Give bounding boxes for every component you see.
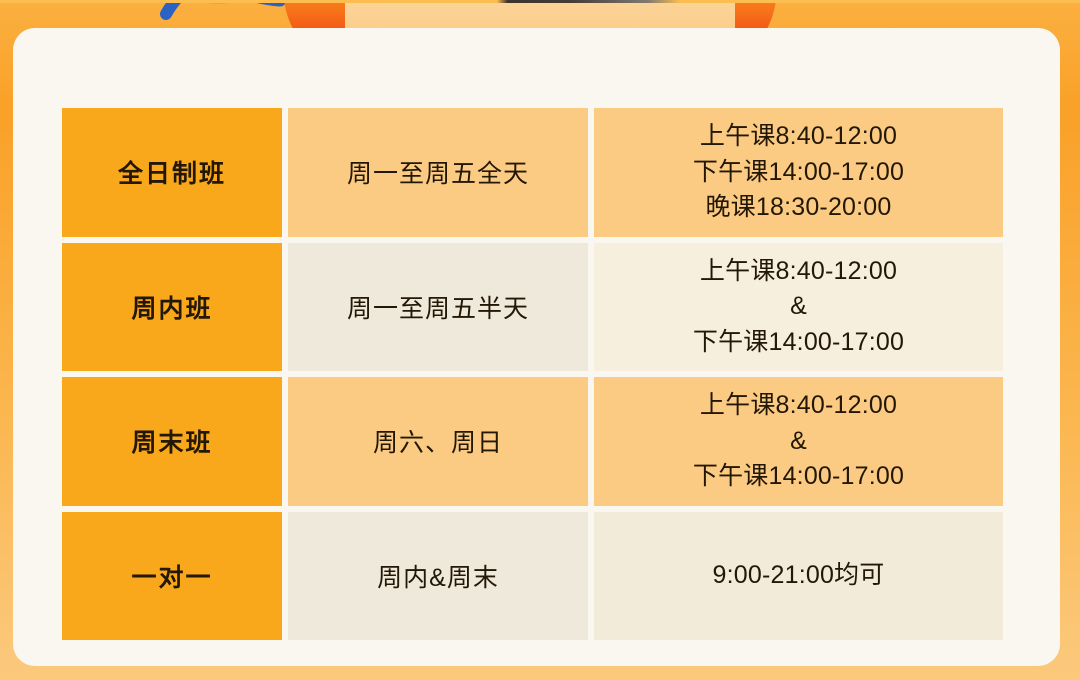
class-time-line: 9:00-21:00均可: [713, 558, 885, 594]
class-time-line: 上午课8:40-12:00: [693, 254, 904, 290]
class-time-line: 下午课14:00-17:00: [693, 325, 904, 361]
class-days-cell: 周内&周末: [288, 512, 588, 641]
class-time-line: 上午课8:40-12:00: [693, 388, 904, 424]
class-times-cell: 9:00-21:00均可: [594, 512, 1003, 641]
class-time-line: 晚课18:30-20:00: [693, 190, 904, 226]
table-row: 全日制班 周一至周五全天 上午课8:40-12:00 下午课14:00-17:0…: [62, 108, 1003, 237]
class-times-cell: 上午课8:40-12:00 下午课14:00-17:00 晚课18:30-20:…: [594, 108, 1003, 237]
page-root: 全日制班 周一至周五全天 上午课8:40-12:00 下午课14:00-17:0…: [0, 0, 1080, 680]
class-days-cell: 周一至周五全天: [288, 108, 588, 237]
table-row: 周内班 周一至周五半天 上午课8:40-12:00 & 下午课14:00-17:…: [62, 243, 1003, 372]
class-schedule-table: 全日制班 周一至周五全天 上午课8:40-12:00 下午课14:00-17:0…: [62, 108, 1003, 640]
class-days-cell: 周六、周日: [288, 377, 588, 506]
class-type-cell: 一对一: [62, 512, 282, 641]
top-edge-line: [0, 0, 1080, 3]
class-type-cell: 周内班: [62, 243, 282, 372]
class-time-line: 上午课8:40-12:00: [693, 119, 904, 155]
class-type-cell: 周末班: [62, 377, 282, 506]
class-time-line: &: [693, 289, 904, 325]
table-row: 周末班 周六、周日 上午课8:40-12:00 & 下午课14:00-17:00: [62, 377, 1003, 506]
class-time-line: 下午课14:00-17:00: [693, 155, 904, 191]
class-times-cell: 上午课8:40-12:00 & 下午课14:00-17:00: [594, 377, 1003, 506]
class-time-line: 下午课14:00-17:00: [693, 459, 904, 495]
class-type-cell: 全日制班: [62, 108, 282, 237]
class-days-cell: 周一至周五半天: [288, 243, 588, 372]
class-time-line: &: [693, 424, 904, 460]
class-times-cell: 上午课8:40-12:00 & 下午课14:00-17:00: [594, 243, 1003, 372]
table-row: 一对一 周内&周末 9:00-21:00均可: [62, 512, 1003, 641]
